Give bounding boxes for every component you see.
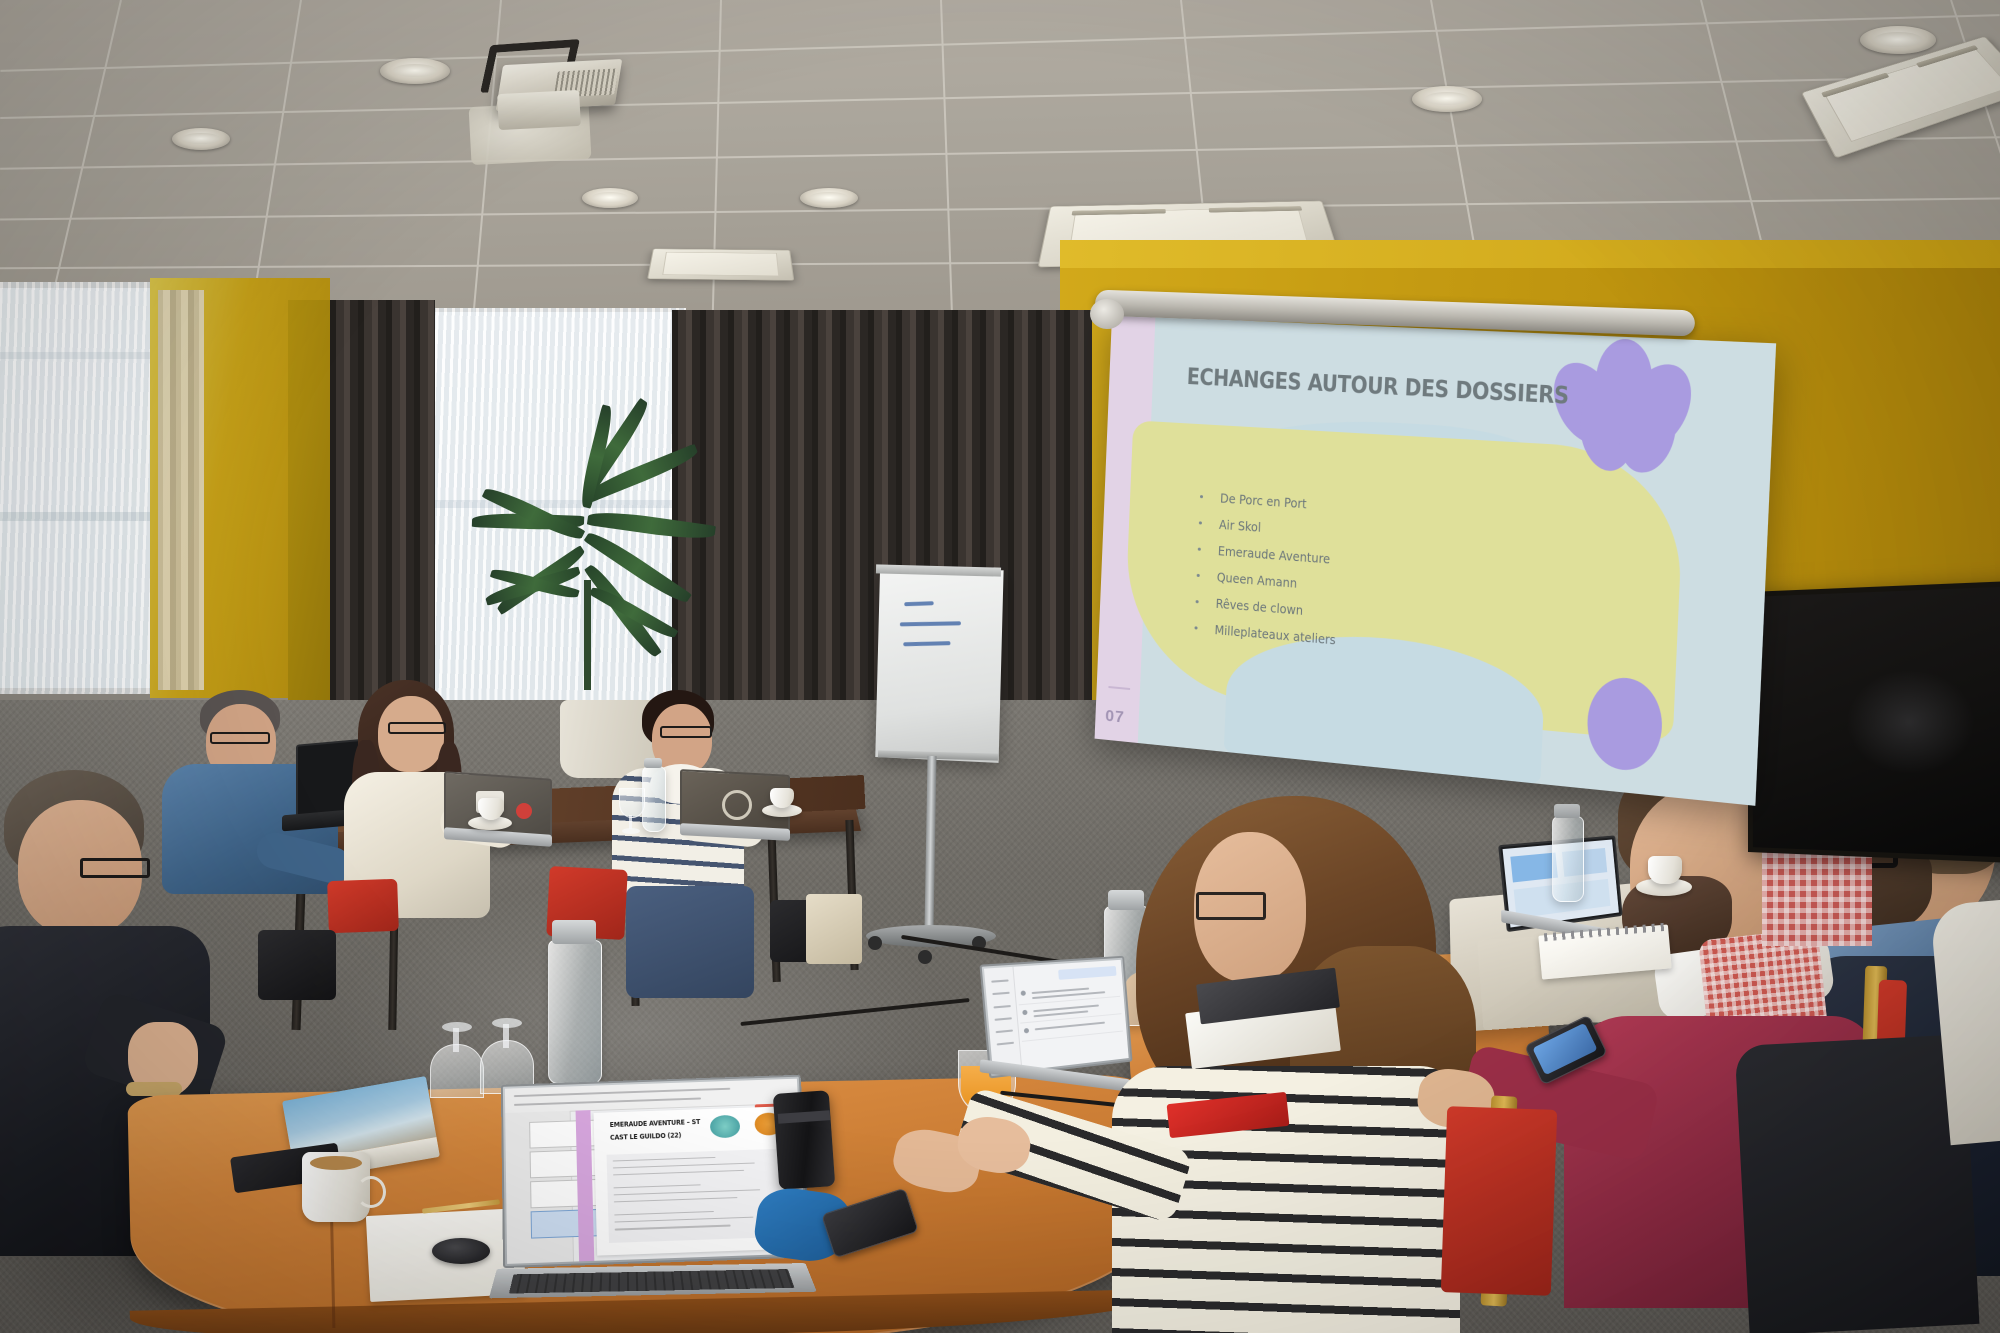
bullet-dot-icon: [1198, 548, 1201, 551]
chair-red[interactable]: [327, 879, 399, 933]
slide-content: LE DOSSIER D'AIDE 07 ECHANGES AUTOUR DES…: [1095, 315, 1777, 806]
slide-bullet-list: De Porc en Port Air Skol Emeraude Aventu…: [1194, 489, 1359, 660]
laptop-foreground-document[interactable]: EMERAUDE AVENTURE – ST CAST LE GUILDO (2…: [494, 1078, 814, 1308]
bullet-dot-icon: [1199, 521, 1202, 524]
slide-flower-decoration: [1554, 336, 1712, 483]
coat-on-chair: [1735, 1034, 1980, 1333]
water-bottle-foreground[interactable]: [548, 940, 602, 1084]
slide-bullet-text: Queen Amann: [1217, 569, 1298, 591]
slide-bullet-item: Air Skol: [1199, 515, 1358, 541]
ac-ceiling-vent: [647, 249, 794, 281]
tote-bag: [806, 894, 862, 964]
bottle-cap: [1554, 804, 1580, 818]
bottle-cap: [644, 758, 662, 768]
person-woman-striped-sweater: [1078, 796, 1498, 1333]
ac-panel: [662, 252, 780, 276]
glass-bowl: [430, 1044, 484, 1098]
downlight-icon: [380, 58, 450, 84]
bullet-dot-icon: [1197, 574, 1200, 577]
flipchart-handwriting-line: [900, 621, 961, 626]
glass-foot: [442, 1022, 472, 1032]
slide-bullet-item: Queen Amann: [1196, 568, 1355, 596]
bullet-dot-icon: [1196, 600, 1199, 603]
flipchart-board[interactable]: [875, 570, 1003, 763]
slide-page-number: 07: [1105, 708, 1125, 728]
backpack: [258, 930, 336, 1000]
laptop-sticker-icon: [516, 803, 532, 819]
glass-foot: [622, 828, 640, 834]
downlight-icon: [1412, 86, 1482, 112]
flipchart-handwriting-line: [903, 641, 950, 646]
wine-glass: [618, 788, 644, 834]
coffee-surface: [310, 1156, 362, 1170]
chair-red-right[interactable]: [1441, 1106, 1557, 1296]
screen-panel: [1510, 852, 1558, 883]
projection-screen: LE DOSSIER D'AIDE 07 ECHANGES AUTOUR DES…: [1095, 315, 1777, 806]
laptop-sticker-icon: [722, 790, 752, 820]
mail-sidebar[interactable]: [984, 967, 1023, 1074]
coffee-cup-right[interactable]: [1648, 856, 1682, 884]
cup-handle: [356, 1176, 386, 1208]
slide-bullet-item: Milleplateaux ateliers: [1194, 620, 1353, 649]
eyeglasses-icon: [1196, 892, 1266, 920]
water-bottle-right[interactable]: [1552, 816, 1584, 902]
wall-display-tv: [1748, 580, 2000, 864]
bottle-cap: [552, 920, 596, 944]
meeting-room-photo: LE DOSSIER D'AIDE 07 ECHANGES AUTOUR DES…: [0, 0, 2000, 1333]
caster-wheel-icon: [868, 936, 882, 950]
palm-frond: [587, 508, 716, 543]
downlight-icon: [1860, 26, 1936, 54]
window-mullion: [0, 512, 160, 521]
slide-bullet-text: Air Skol: [1219, 517, 1262, 535]
plant-stem: [584, 580, 591, 690]
slide-bullet-item: Rêves de clown: [1195, 594, 1354, 622]
curtain-beige-left: [158, 290, 204, 690]
conference-microphone-puck[interactable]: [432, 1238, 490, 1264]
bullet-dot-icon: [1200, 495, 1203, 498]
slide-title: ECHANGES AUTOUR DES DOSSIERS: [1186, 365, 1569, 410]
glass-foot: [492, 1018, 522, 1028]
downlight-icon: [582, 188, 638, 208]
water-bottle: [642, 766, 666, 832]
window-mullion: [0, 352, 160, 359]
slide-bullet-text: Milleplateaux ateliers: [1214, 622, 1336, 648]
slide-bullet-text: Emeraude Aventure: [1218, 543, 1331, 567]
eyeglasses-icon: [660, 726, 712, 738]
eyeglasses-icon: [388, 722, 446, 734]
slide-bullet-item: Emeraude Aventure: [1197, 542, 1356, 569]
sheer-curtain-left: [0, 282, 165, 694]
document-heading-line1: EMERAUDE AVENTURE – ST: [609, 1118, 700, 1129]
curtain-dark-left: [330, 300, 435, 720]
eyeglasses-icon: [210, 732, 270, 744]
caster-wheel-icon: [918, 950, 932, 964]
camera-lens: [773, 1090, 836, 1190]
downlight-icon: [172, 128, 230, 150]
document-heading-line2: CAST LE GUILDO (22): [610, 1131, 681, 1141]
jeans: [626, 886, 754, 998]
flipchart-handwriting-line: [904, 601, 933, 606]
eyeglasses-icon: [80, 858, 150, 878]
document-logo-icon: [709, 1115, 740, 1138]
projector-lens-icon: [497, 90, 581, 130]
glass-bowl: [619, 788, 645, 818]
tv-reflection: [1846, 668, 1974, 775]
wine-glass-inverted: [428, 1022, 484, 1108]
head: [378, 696, 444, 772]
bullet-dot-icon: [1194, 626, 1197, 629]
slide-bullet-text: Rêves de clown: [1215, 596, 1303, 618]
glass-stem: [629, 815, 632, 829]
downlight-icon: [800, 188, 858, 208]
